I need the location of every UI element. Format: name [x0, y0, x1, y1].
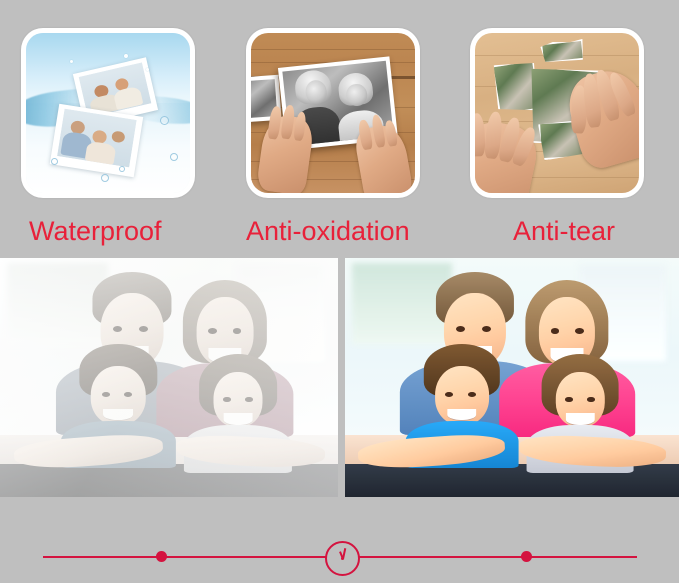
mini-body [84, 140, 116, 164]
anti-tear-image [475, 33, 639, 193]
mini-head [111, 130, 125, 143]
left-hand [256, 113, 315, 193]
eye [245, 397, 253, 402]
finger [384, 119, 398, 147]
eye [208, 328, 217, 334]
divider-dot [156, 551, 167, 562]
left-hand-tearing [475, 116, 542, 193]
decorative-divider [0, 532, 679, 583]
eye [482, 326, 491, 332]
product-feature-page: Waterproof Anti-oxidation Anti-tear [0, 0, 679, 583]
eye [587, 397, 595, 402]
eye [223, 397, 231, 402]
clock-pivot [341, 557, 344, 560]
feature-label-anti-oxidation: Anti-oxidation [246, 216, 410, 246]
family-portrait-faded [0, 258, 338, 497]
before-after-comparison [0, 258, 679, 497]
eye [124, 392, 132, 397]
clock-icon [325, 541, 360, 576]
eye [565, 397, 573, 402]
comparison-after-image [345, 258, 679, 497]
comparison-before-image [0, 258, 338, 497]
wood-grain [251, 49, 415, 50]
eye [468, 392, 476, 397]
feature-card-row: Waterproof Anti-oxidation Anti-tear [0, 0, 679, 250]
eye [445, 392, 453, 397]
floating-photo-bottom [50, 104, 144, 177]
family-portrait-vivid [345, 258, 679, 497]
anti-oxidation-image [251, 33, 415, 193]
torn-photo-piece [540, 39, 585, 64]
feature-card-anti-tear[interactable] [470, 28, 644, 198]
mini-family-bottom [57, 109, 137, 167]
feature-label-waterproof: Waterproof [29, 216, 162, 246]
floating-photo-bottom-inner [57, 109, 137, 167]
divider-dot [521, 551, 532, 562]
eye [456, 326, 465, 332]
feature-card-waterproof[interactable] [21, 28, 195, 198]
water-droplet [51, 158, 58, 165]
eye [113, 326, 122, 332]
eye [102, 392, 110, 397]
finger [475, 113, 485, 157]
water-droplet [146, 68, 149, 71]
feature-card-anti-oxidation[interactable] [246, 28, 420, 198]
feature-label-anti-tear: Anti-tear [513, 216, 615, 246]
waterproof-image [26, 33, 190, 193]
eye [575, 328, 584, 334]
eye [139, 326, 148, 332]
